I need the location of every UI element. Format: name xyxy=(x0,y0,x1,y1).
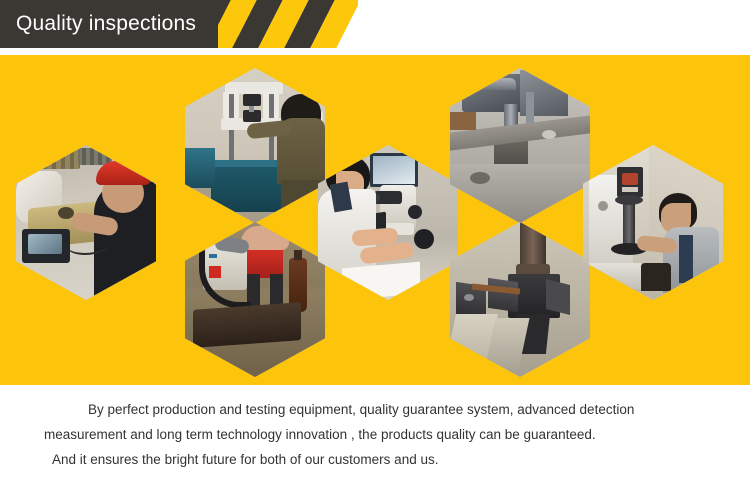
gallery-hex-charpy-impact-test[interactable] xyxy=(450,222,590,377)
page-title: Quality inspections xyxy=(16,10,196,38)
compression-testing-machine-photo xyxy=(450,68,590,223)
gallery-hex-universal-testing-machine[interactable] xyxy=(185,68,325,223)
gallery-hex-ultrasonic-flaw-detector[interactable] xyxy=(16,145,156,300)
metallurgical-microscope-photo xyxy=(318,145,458,300)
gallery-hex-hardness-tester[interactable] xyxy=(583,145,723,300)
hardness-tester-photo xyxy=(583,145,723,300)
caption-block: By perfect production and testing equipm… xyxy=(0,392,750,485)
caption-line-2: measurement and long term technology inn… xyxy=(0,422,750,447)
gallery-hex-metallurgical-microscope[interactable] xyxy=(318,145,458,300)
universal-testing-machine-photo xyxy=(185,68,325,223)
header-banner: Quality inspections xyxy=(0,0,750,48)
quality-inspections-page: Quality inspections xyxy=(0,0,750,485)
magnetic-particle-inspection-photo xyxy=(185,222,325,377)
ultrasonic-flaw-detector-photo xyxy=(16,145,156,300)
caption-line-1: By perfect production and testing equipm… xyxy=(0,392,750,422)
charpy-impact-test-photo xyxy=(450,222,590,377)
gallery-hex-compression-testing-machine[interactable] xyxy=(450,68,590,223)
gallery-hex-magnetic-particle-inspection[interactable] xyxy=(185,222,325,377)
hazard-stripes-decoration xyxy=(218,0,358,48)
gallery-panel xyxy=(0,55,750,385)
caption-line-3: And it ensures the bright future for bot… xyxy=(0,447,750,472)
